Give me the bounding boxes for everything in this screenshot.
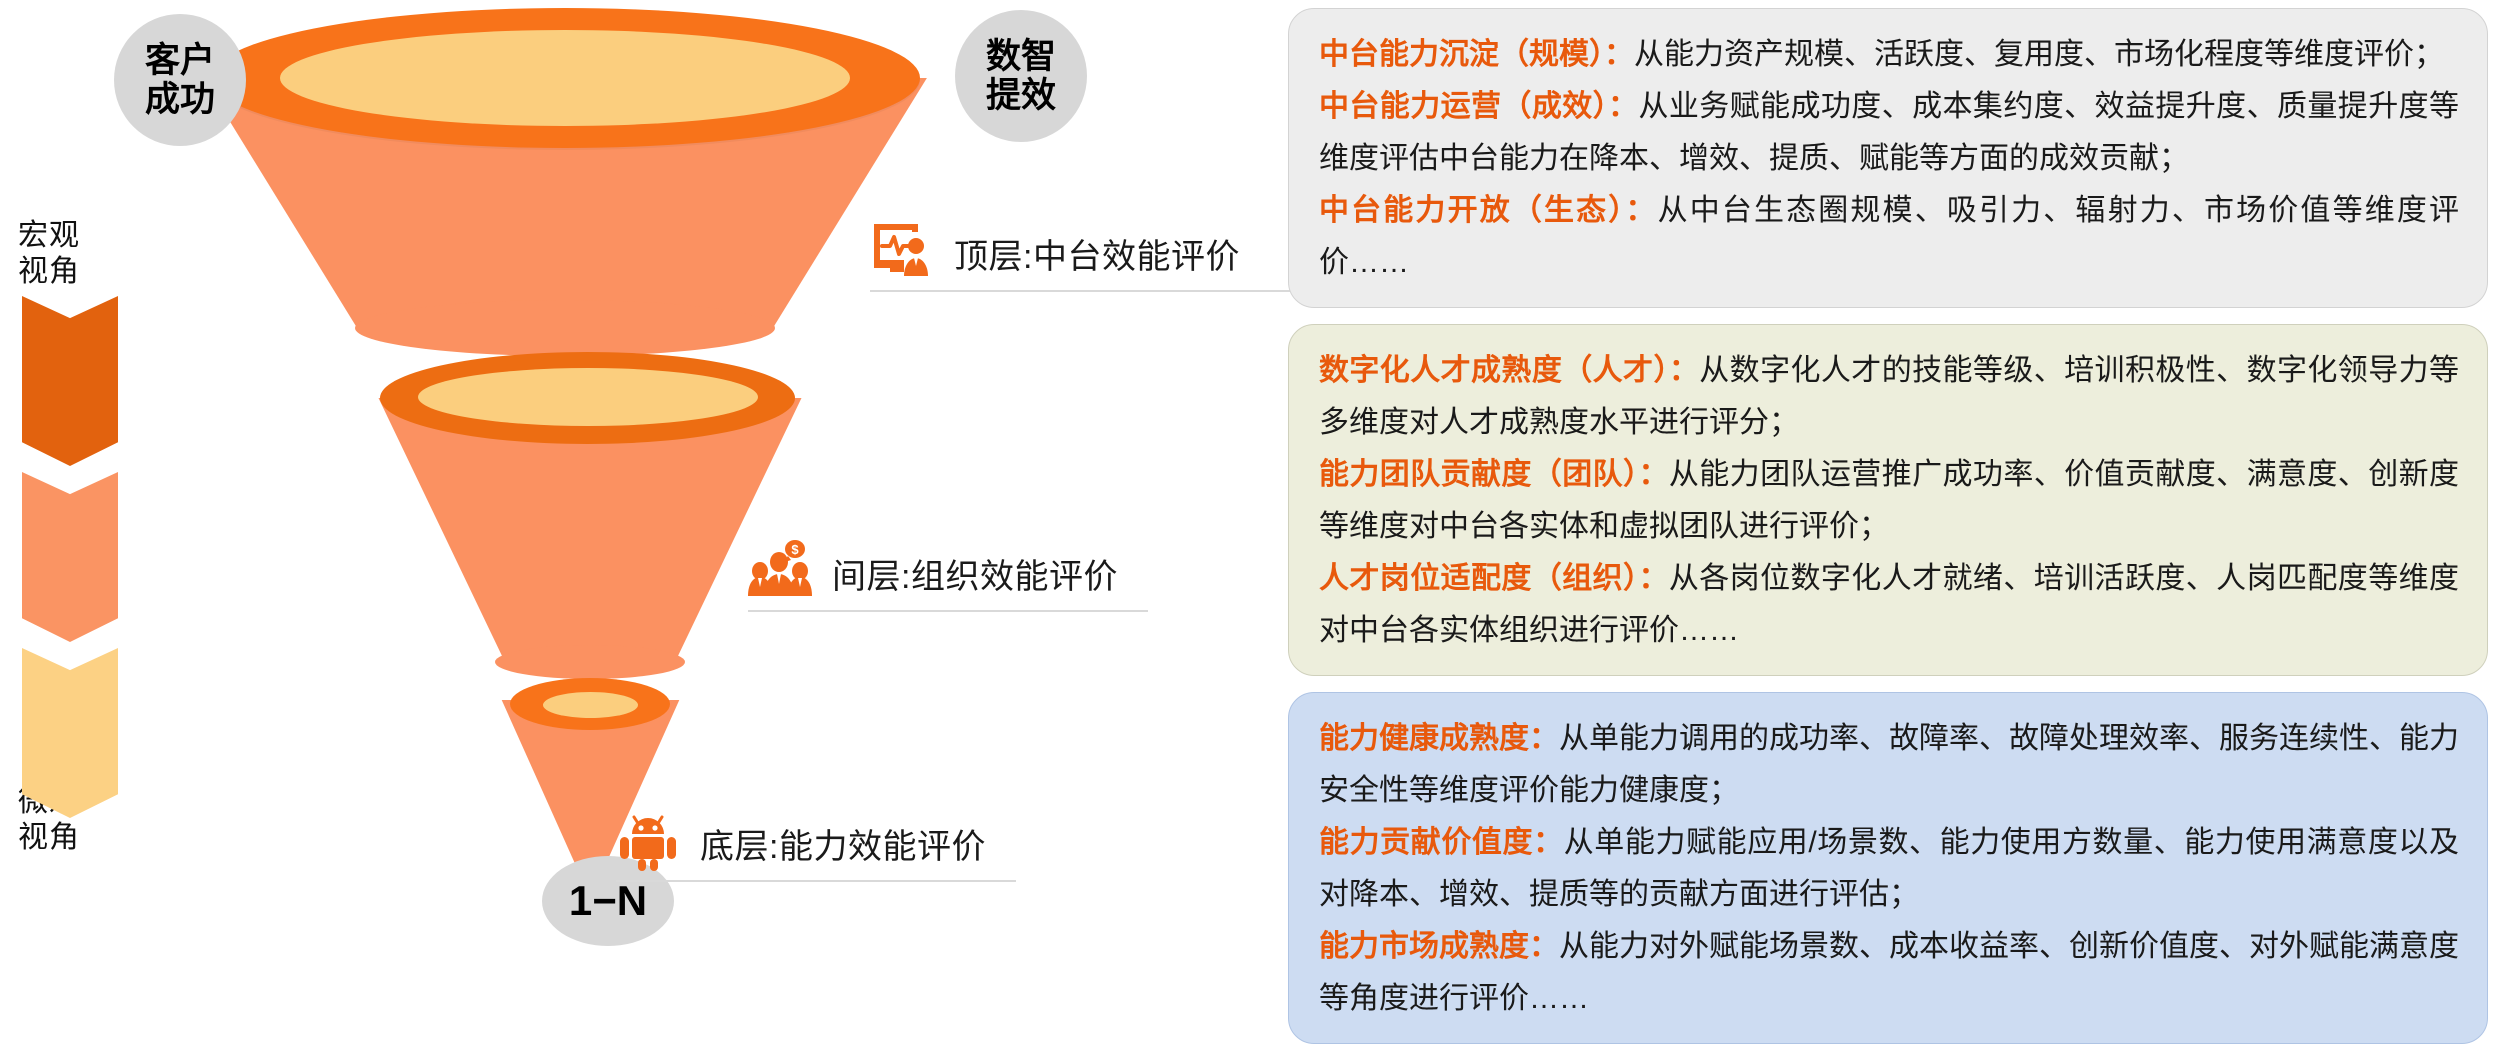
callout-bottom-layer: 底层:能力效能评价 bbox=[616, 808, 986, 872]
panel-paragraph: 数字化人才成熟度（人才）：从数字化人才的技能等级、培训积极性、数字化领导力等多维… bbox=[1319, 345, 2459, 657]
info-panel-top-layer: 中台能力沉淀（规模）：从能力资产规模、活跃度、复用度、市场化程度等维度评价； 中… bbox=[1288, 8, 2488, 308]
panel-item-body: 从能力资产规模、活跃度、复用度、市场化程度等维度评价； bbox=[1634, 38, 2444, 71]
panel-paragraph: 能力健康成熟度：从单能力调用的成功率、故障率、故障处理效率、服务连续性、能力安全… bbox=[1319, 713, 2459, 1025]
panel-item-heading: 中台能力沉淀（规模）： bbox=[1319, 38, 1634, 71]
bubble-right-line-1: 数智 bbox=[986, 37, 1056, 76]
info-panel-group: 中台能力沉淀（规模）：从能力资产规模、活跃度、复用度、市场化程度等维度评价； 中… bbox=[1288, 8, 2488, 1060]
panel-item-heading: 中台能力开放（生态）： bbox=[1319, 194, 1658, 227]
info-panel-middle-layer: 数字化人才成熟度（人才）：从数字化人才的技能等级、培训积极性、数字化领导力等多维… bbox=[1288, 324, 2488, 676]
monitor-analytics-person-icon bbox=[870, 218, 934, 282]
funnel-cone-top-cap bbox=[355, 300, 775, 356]
bubble-digital-efficiency: 数智 提效 bbox=[955, 10, 1087, 142]
funnel-cone-middle-cap bbox=[495, 645, 685, 679]
callout-middle-label: 间层:组织效能评价 bbox=[832, 549, 1118, 602]
funnel-top-inner-ellipse bbox=[280, 30, 850, 126]
callout-top-layer: 顶层:中台效能评价 bbox=[870, 218, 1240, 282]
callout-middle-layer: $ 间层:组织效能评价 bbox=[748, 538, 1118, 602]
panel-item-heading: 能力健康成熟度： bbox=[1319, 722, 1559, 755]
panel-item-heading: 人才岗位适配度（组织）： bbox=[1319, 562, 1669, 595]
info-panel-bottom-layer: 能力健康成熟度：从单能力调用的成功率、故障率、故障处理效率、服务连续性、能力安全… bbox=[1288, 692, 2488, 1044]
bubble-right-line-2: 提效 bbox=[986, 76, 1056, 115]
bubble-left-line-1: 客户 bbox=[145, 41, 215, 80]
team-dollar-icon: $ bbox=[748, 538, 812, 602]
panel-item-heading: 能力市场成熟度： bbox=[1319, 930, 1559, 963]
panel-item-heading: 能力团队贡献度（团队）： bbox=[1319, 458, 1669, 491]
panel-item-heading: 能力贡献价值度： bbox=[1319, 826, 1564, 859]
panel-item-heading: 中台能力运营（成效）： bbox=[1319, 90, 1638, 123]
panel-paragraph: 中台能力沉淀（规模）：从能力资产规模、活跃度、复用度、市场化程度等维度评价； 中… bbox=[1319, 29, 2459, 289]
panel-item-heading: 数字化人才成熟度（人才）： bbox=[1319, 354, 1699, 387]
bubble-bottom-label: 1−N bbox=[569, 877, 647, 924]
callout-bottom-rule bbox=[616, 880, 1016, 882]
android-robot-icon bbox=[616, 808, 680, 872]
diagram-canvas: 宏观 视角 微观 视角 客户 成功 数智 提效 bbox=[0, 0, 2500, 956]
svg-text:$: $ bbox=[791, 542, 799, 557]
callout-middle-rule bbox=[748, 610, 1148, 612]
funnel-bottom-inner-ellipse bbox=[543, 692, 638, 718]
callout-top-rule bbox=[870, 290, 1290, 292]
bubble-left-line-2: 成功 bbox=[145, 80, 215, 119]
callout-bottom-label: 底层:能力效能评价 bbox=[700, 819, 986, 872]
bubble-customer-success: 客户 成功 bbox=[114, 14, 246, 146]
callout-top-label: 顶层:中台效能评价 bbox=[954, 229, 1240, 282]
funnel-middle-inner-ellipse bbox=[418, 368, 758, 426]
